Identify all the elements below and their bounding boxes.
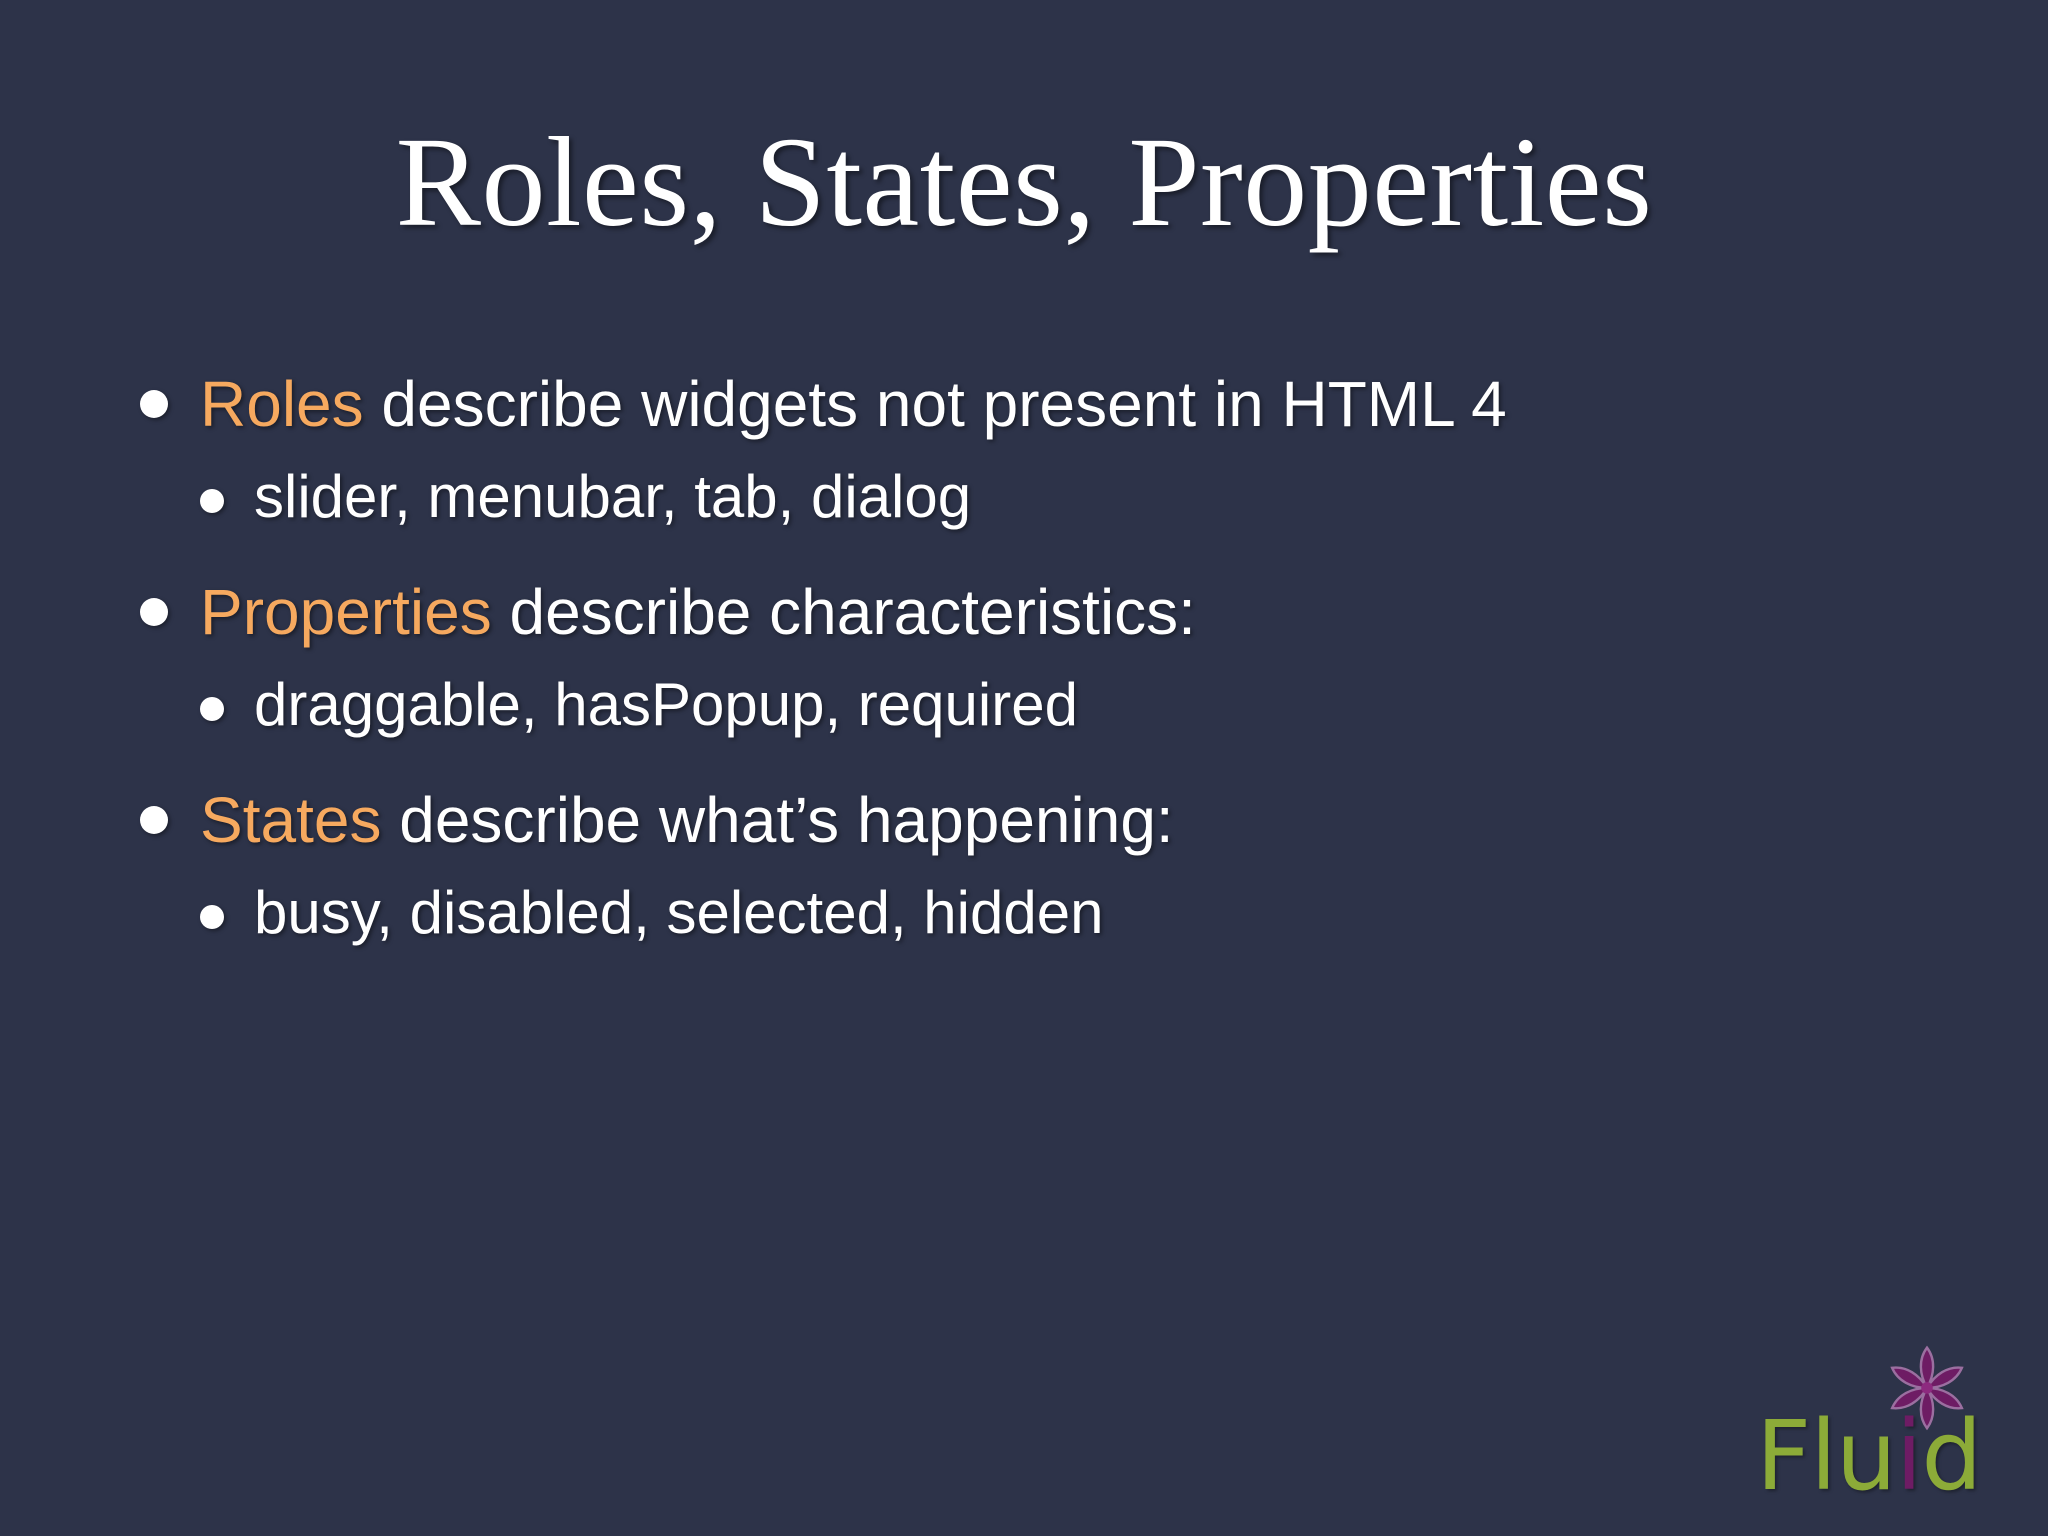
list-item: draggable, hasPopup, required [140,662,1920,748]
bullet-list: Roles describe widgets not present in HT… [140,360,1920,962]
list-item: Properties describe characteristics: [140,568,1920,656]
fluid-wordmark-part1: Flu [1756,1400,1896,1512]
fluid-wordmark-i: i [1896,1400,1922,1512]
list-item-text: slider, menubar, tab, dialog [254,454,971,540]
bullet-dot-icon [140,806,168,834]
list-item-text: Properties describe characteristics: [200,568,1196,656]
list-item-text: States describe what’s happening: [200,776,1174,864]
list-item-accent: Properties [200,576,492,648]
list-item-rest: describe widgets not present in HTML 4 [364,368,1507,440]
fluid-wordmark-part3: d [1921,1400,1981,1512]
list-item-rest: describe what’s happening: [381,784,1173,856]
bullet-dot-icon [200,697,224,721]
list-item: Roles describe widgets not present in HT… [140,360,1920,448]
bullet-dot-icon [140,390,168,418]
presentation-slide: Roles, States, Properties Roles describe… [0,0,2048,1536]
spacer [140,546,1920,568]
list-item-text: draggable, hasPopup, required [254,662,1078,748]
bullet-dot-icon [200,905,224,929]
list-item: busy, disabled, selected, hidden [140,870,1920,956]
page-title: Roles, States, Properties [0,118,2048,246]
list-item-text: Roles describe widgets not present in HT… [200,360,1507,448]
spacer [140,754,1920,776]
list-item-accent: Roles [200,368,364,440]
list-item-accent: States [200,784,381,856]
fluid-wordmark: Fluid [1756,1404,2006,1514]
list-item: slider, menubar, tab, dialog [140,454,1920,540]
list-item-rest: describe characteristics: [492,576,1196,648]
list-item: States describe what’s happening: [140,776,1920,864]
bullet-dot-icon [140,598,168,626]
fluid-logo: Fluid [1756,1332,2006,1522]
bullet-dot-icon [200,489,224,513]
list-item-text: busy, disabled, selected, hidden [254,870,1103,956]
